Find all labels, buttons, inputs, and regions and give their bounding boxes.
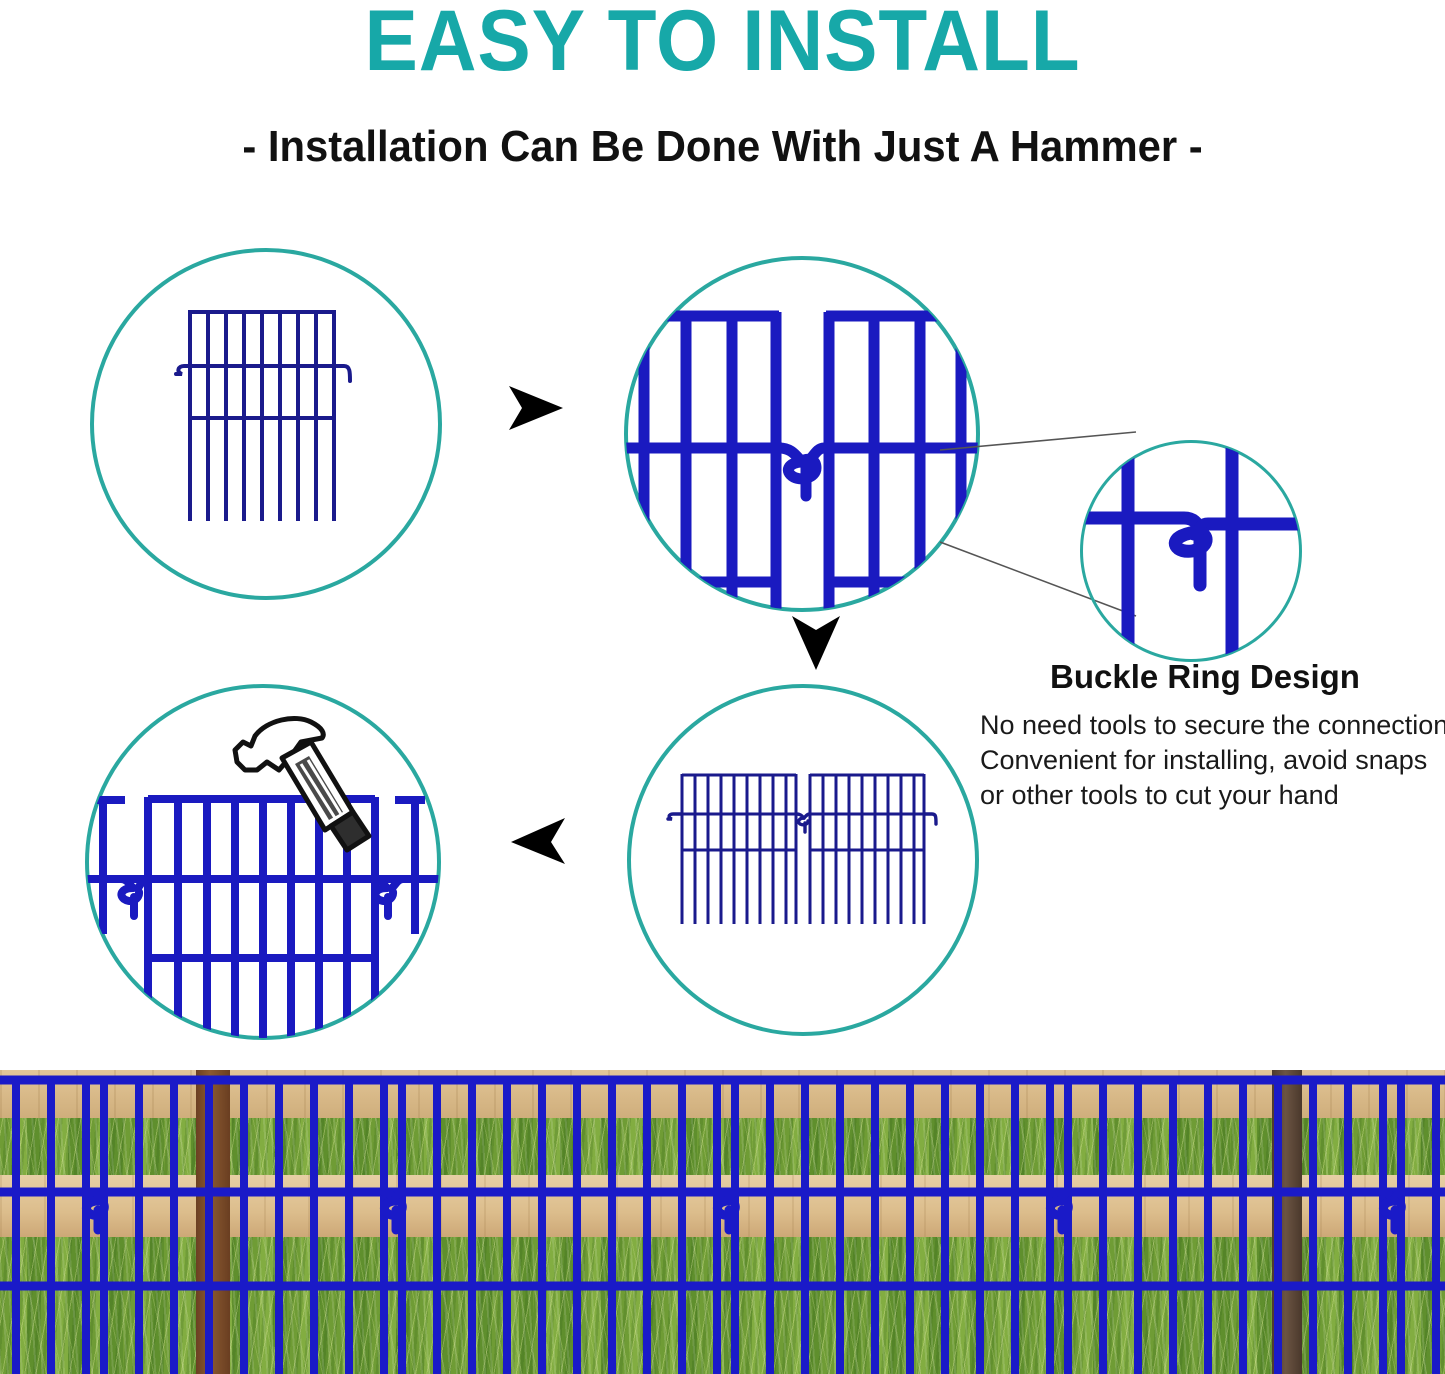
buckle-hook-right-icon	[334, 366, 350, 381]
arrow-down-icon	[788, 612, 844, 674]
buckle-desc-line-1: No need tools to secure the connection	[980, 708, 1442, 743]
hammer-install-illustration	[85, 684, 441, 1040]
buckle-ring-detail-circle	[1080, 440, 1302, 662]
installed-fence-photo: Blue wire fence installed in grass in fr…	[0, 1040, 1445, 1374]
arrow-right-icon	[505, 382, 569, 434]
buckle-connection-illustration	[624, 256, 980, 612]
buckle-ring-description: No need tools to secure the connection C…	[980, 708, 1442, 813]
two-panels-illustration	[627, 684, 979, 1036]
buckle-desc-line-3: or other tools to cut your hand	[980, 778, 1442, 813]
infographic-page: EASY TO INSTALL - Installation Can Be Do…	[0, 0, 1445, 1374]
blue-wire-fence-overlay	[0, 1040, 1445, 1374]
arrow-left-icon	[505, 812, 569, 868]
buckle-ring-left-icon	[121, 879, 148, 916]
step-1-single-fence-panel: Single fence panel with buckle hooks	[90, 248, 442, 600]
buckle-ring-center-icon	[796, 814, 810, 832]
buckle-ring-detail-illustration	[1080, 440, 1302, 662]
buckle-hook-right-icon	[924, 814, 936, 824]
single-panel-illustration	[90, 248, 442, 600]
buckle-ring-right-icon	[375, 879, 403, 916]
step-4-hammer-into-ground: Drive the assembled fence into the groun…	[85, 684, 441, 1040]
buckle-desc-line-2: Convenient for installing, avoid snaps	[980, 743, 1442, 778]
buckle-hook-left-icon	[176, 366, 190, 374]
buckle-hook-left-icon	[668, 814, 682, 819]
buckle-ring-title: Buckle Ring Design	[985, 658, 1425, 696]
hammer-icon	[235, 718, 369, 850]
step-3-two-panels-joined: Two panels joined side by side	[627, 684, 979, 1036]
installation-steps-diagram: Single fence panel with buckle hooks rig…	[0, 0, 1445, 1040]
step-2-buckle-connection-closeup: Hook two panels together with the buckle…	[624, 256, 980, 612]
